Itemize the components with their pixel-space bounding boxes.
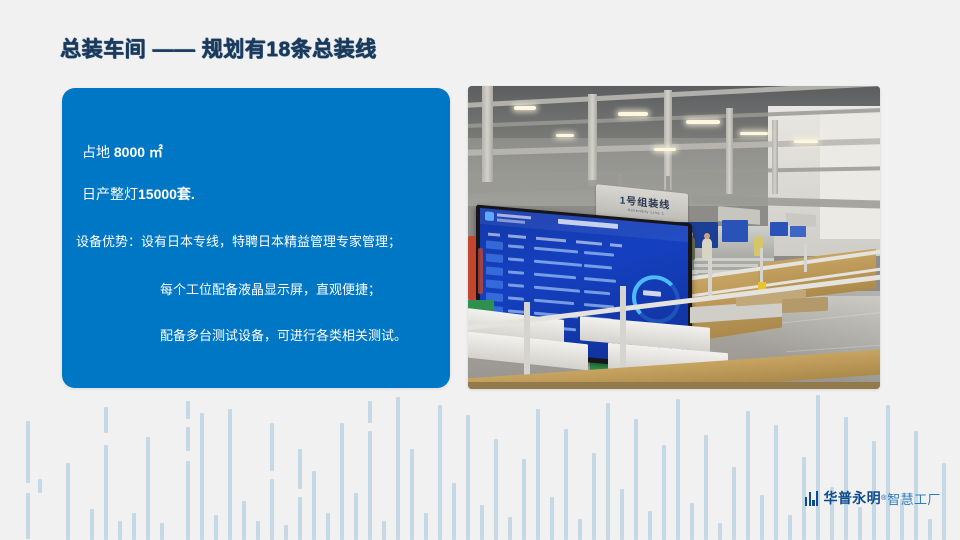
photo-back-opening (820, 114, 880, 239)
monitor-cell (584, 277, 616, 283)
photo-cardboard-box (782, 297, 828, 313)
decorative-bar (704, 435, 708, 540)
decorative-bar (200, 413, 204, 540)
advantage-line-1: 设备优势：设有日本专线，特聘日本精益管理专家管理； (76, 234, 401, 251)
photo-blue-bin (722, 220, 748, 242)
photo-foreground-panel-edge (468, 382, 880, 389)
area-label: 占地 (82, 144, 114, 160)
info-panel: 占地 8000 ㎡ 日产整灯15000套. 设备优势：设有日本专线，特聘日本精益… (62, 88, 450, 388)
decorative-bar (536, 409, 540, 540)
monitor-cell (534, 286, 580, 293)
decorative-bar (160, 523, 164, 540)
decorative-bar (214, 515, 218, 540)
decorative-bar (298, 449, 302, 489)
decorative-bar (676, 399, 680, 540)
logo-suffix: 智慧工厂 (887, 489, 941, 508)
monitor-cell (534, 299, 574, 305)
decorative-bar (928, 519, 932, 540)
decorative-bar (256, 521, 260, 540)
photo-ceiling-light (618, 112, 648, 116)
photo-railing-post (708, 256, 712, 296)
decorative-bar (578, 519, 582, 540)
decorative-bar (690, 503, 694, 540)
decorative-bar (550, 497, 554, 540)
decorative-bar (146, 437, 150, 540)
monitor-col-header (488, 233, 500, 237)
photo-red-equipment (468, 236, 476, 300)
decorative-bar (452, 483, 456, 540)
advantage-line-2: 每个工位配备液晶显示屏，直观便捷； (160, 282, 381, 299)
decorative-bar (118, 521, 122, 540)
logo-registered-mark: ® (881, 495, 886, 502)
decorative-bar-pattern (0, 393, 960, 540)
photo-ceiling-light (556, 134, 574, 137)
decorative-bar (382, 521, 386, 540)
monitor-cell (508, 296, 524, 300)
output-label: 日产整灯 (82, 186, 138, 202)
decorative-bar (270, 423, 274, 471)
page-title: 总装车间 —— 规划有18条总装线 (60, 33, 377, 63)
photo-column (772, 120, 778, 194)
decorative-bar (508, 517, 512, 540)
output-value: 15000套. (138, 186, 195, 202)
decorative-bar (494, 439, 498, 540)
decorative-bar (242, 501, 246, 540)
photo-ceiling-light (794, 140, 818, 143)
area-value: 8000 ㎡ (114, 144, 163, 160)
monitor-cell (508, 244, 524, 248)
photo-red-equipment (478, 248, 483, 294)
decorative-bar (606, 403, 610, 540)
decorative-bar (774, 425, 778, 540)
decorative-bar (104, 445, 108, 540)
photo-column (726, 108, 733, 194)
monitor-col-header (610, 243, 622, 247)
output-line: 日产整灯15000套. (82, 185, 195, 203)
decorative-bar (634, 419, 638, 540)
photo-blue-bin (770, 222, 788, 236)
decorative-bar (886, 405, 890, 540)
decorative-bar (424, 513, 428, 540)
decorative-bar (186, 401, 190, 419)
monitor-col-header (576, 240, 602, 245)
logo-bars-icon (805, 491, 818, 506)
decorative-bar (438, 405, 442, 540)
decorative-bar (466, 415, 470, 540)
photo-ceiling-light (686, 120, 720, 124)
decorative-bar (844, 417, 848, 540)
monitor-col-header (508, 234, 526, 239)
decorative-bar (26, 493, 30, 539)
monitor-cell (534, 260, 582, 267)
monitor-row-label (486, 279, 503, 288)
photo-blue-bin (790, 226, 806, 237)
decorative-bar (396, 397, 400, 540)
decorative-bar (104, 407, 108, 433)
photo-ceiling-light (740, 132, 768, 135)
decorative-bar (620, 489, 624, 540)
decorative-bar (746, 411, 750, 540)
decorative-bar (354, 493, 358, 540)
decorative-bar (732, 467, 736, 540)
monitor-cell (534, 273, 576, 280)
decorative-bar (718, 523, 722, 540)
decorative-bar (858, 507, 862, 540)
decorative-bar (186, 461, 190, 540)
decorative-bar (312, 471, 316, 540)
decorative-bar (340, 423, 344, 540)
decorative-bar (284, 525, 288, 540)
photo-railing-post (804, 244, 807, 272)
decorative-bar (942, 463, 946, 540)
decorative-bar (66, 463, 70, 540)
photo-railing-post (760, 248, 763, 282)
photo-worker-head (704, 233, 710, 239)
decorative-bar (38, 479, 42, 493)
decorative-bar (228, 409, 232, 540)
decorative-bar (592, 453, 596, 540)
decorative-bar (368, 431, 372, 540)
decorative-bar (564, 429, 568, 540)
decorative-bar (522, 459, 526, 540)
advantage-line-3: 配备多台测试设备，可进行各类相关测试。 (160, 328, 407, 345)
photo-ceiling-light (654, 148, 676, 151)
decorative-bar (480, 505, 484, 540)
monitor-cell (534, 247, 578, 254)
decorative-bar (186, 427, 190, 451)
decorative-bar (298, 497, 302, 540)
monitor-cell (508, 283, 524, 287)
decorative-bar (648, 511, 652, 540)
decorative-bar (816, 395, 820, 540)
photo-column (588, 94, 597, 186)
monitor-row-label (486, 240, 503, 249)
decorative-bar (270, 479, 274, 540)
decorative-bar (760, 495, 764, 540)
decorative-bar (410, 449, 414, 540)
photo-column (482, 86, 493, 182)
photo-column (664, 90, 672, 190)
monitor-col-header (536, 237, 566, 243)
monitor-row-label (486, 266, 503, 275)
monitor-row-label (486, 253, 503, 262)
decorative-bar (90, 509, 94, 540)
monitor-cell (508, 270, 524, 274)
slide-canvas: 总装车间 —— 规划有18条总装线 占地 8000 ㎡ 日产整灯15000套. … (0, 0, 960, 540)
monitor-cell (584, 251, 614, 257)
photo-ceiling-light (514, 106, 536, 110)
monitor-cell (508, 257, 524, 261)
monitor-logo-icon (485, 211, 494, 221)
decorative-bar (788, 515, 792, 540)
logo-brand-name: 华普永明 (823, 488, 881, 508)
monitor-cell (584, 264, 612, 269)
decorative-bar (326, 513, 330, 540)
area-line: 占地 8000 ㎡ (82, 143, 163, 161)
decorative-bar (26, 421, 30, 483)
decorative-bar (132, 513, 136, 540)
factory-photo: 1号组装线 Assembly Line 1 (468, 86, 880, 389)
decorative-bar (914, 431, 918, 540)
monitor-cell (584, 290, 610, 295)
decorative-bar (368, 401, 372, 423)
photo-line-sign-far (786, 213, 816, 227)
brand-logo: 华普永明 ® 智慧工厂 (805, 488, 941, 508)
decorative-bar (662, 445, 666, 540)
